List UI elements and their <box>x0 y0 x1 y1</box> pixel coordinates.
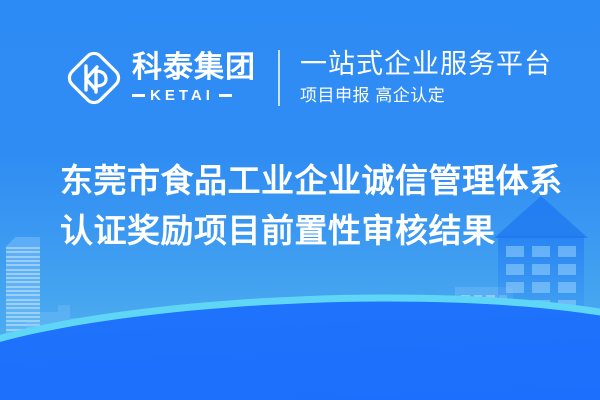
building-window <box>558 282 576 293</box>
tower-window <box>6 264 40 266</box>
banner-header: 科泰集团 KETAI 一站式企业服务平台 项目申报 高企认定 <box>62 40 552 116</box>
page-title-line-1: 东莞市食品工业企业诚信管理体系 <box>60 156 560 206</box>
tower-window <box>6 281 40 283</box>
tower-window <box>6 247 40 249</box>
page-title-line-2: 认证奖励项目前置性审核结果 <box>60 206 560 256</box>
company-name-en: KETAI <box>150 87 214 104</box>
header-divider <box>278 50 280 106</box>
building-window <box>558 264 576 275</box>
slogan-block: 一站式企业服务平台 项目申报 高企认定 <box>300 49 552 107</box>
tower-window <box>6 273 40 275</box>
ketai-logo-icon <box>62 46 126 110</box>
building-window <box>558 246 576 257</box>
company-name-cn: 科泰集团 <box>132 52 256 84</box>
tower-window <box>6 294 40 296</box>
building-window <box>506 282 524 293</box>
tower-window <box>6 269 40 271</box>
tower-window <box>6 260 40 262</box>
tower-window <box>6 312 40 314</box>
company-name-en-row: KETAI <box>132 87 256 104</box>
tower-window <box>6 277 40 279</box>
tower-window <box>6 303 40 305</box>
tower-window <box>6 316 40 318</box>
slogan-secondary: 项目申报 高企认定 <box>300 85 552 107</box>
promo-banner: 科泰集团 KETAI 一站式企业服务平台 项目申报 高企认定 东莞市食品工业企业… <box>0 0 600 400</box>
building-window <box>532 264 550 275</box>
tower-window <box>6 286 40 288</box>
rule-right-icon <box>219 94 232 97</box>
building-window <box>506 264 524 275</box>
tower-window <box>6 299 40 301</box>
ground-arc-fill <box>0 288 600 400</box>
page-title: 东莞市食品工业企业诚信管理体系 认证奖励项目前置性审核结果 <box>60 156 560 256</box>
tower-window <box>6 290 40 292</box>
tower-window <box>6 256 40 258</box>
tower-window <box>6 307 40 309</box>
building-window <box>532 282 550 293</box>
logo-wordmark: 科泰集团 KETAI <box>132 52 256 104</box>
tower-window <box>6 251 40 253</box>
rule-left-icon <box>132 94 145 97</box>
slogan-primary: 一站式企业服务平台 <box>300 49 552 81</box>
